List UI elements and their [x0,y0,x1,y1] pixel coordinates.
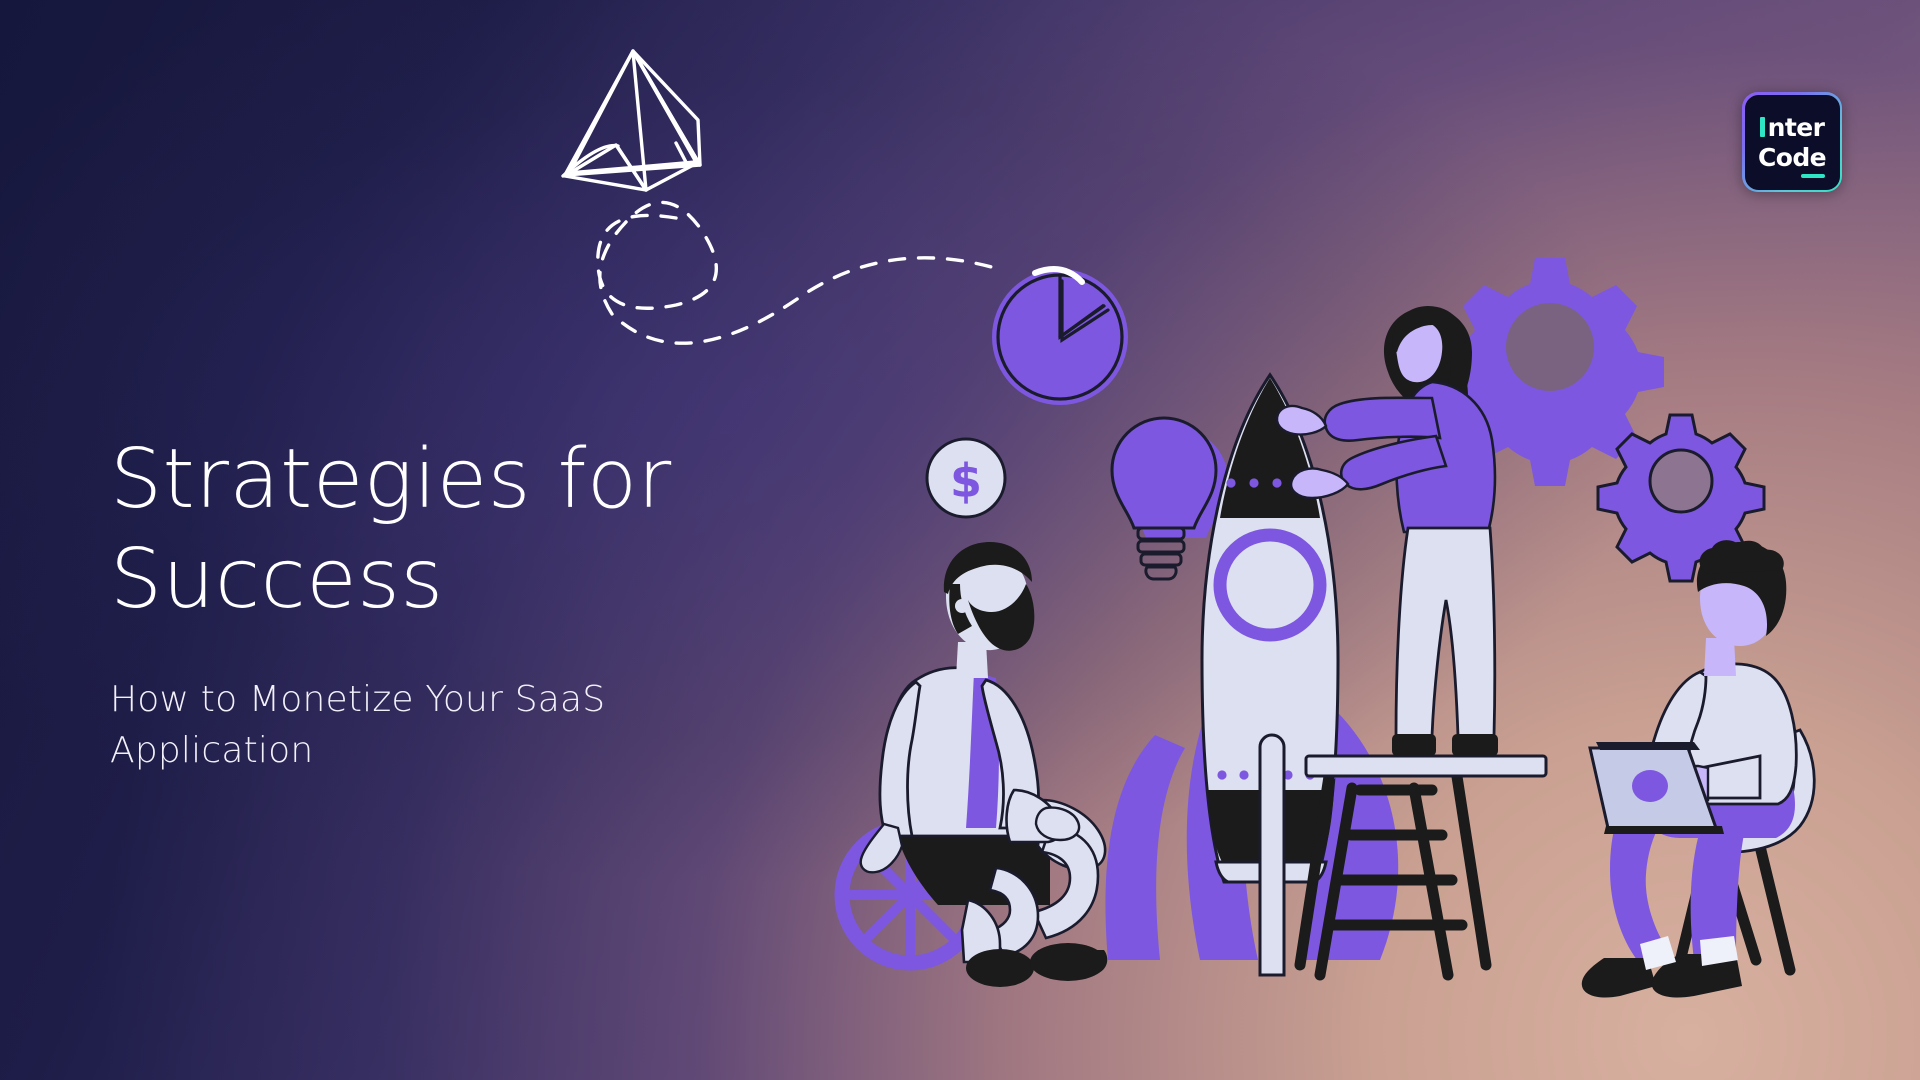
intercode-logo[interactable]: nter Code [1742,92,1842,192]
svg-text:$: $ [950,454,982,508]
person-with-laptop [1582,540,1814,997]
page-subtitle: How to Monetize Your SaaS Application [110,674,670,776]
man-in-wheelchair [842,542,1107,987]
clock-icon [992,269,1128,405]
dollar-coin-icon: $ [927,439,1005,517]
banner-canvas: $ [0,0,1920,1080]
logo-inner: nter Code [1745,95,1840,190]
ladder-platform [1306,756,1546,776]
logo-i-stem-icon [1760,117,1765,137]
page-title: Strategies for Success [110,430,750,630]
logo-inter-text: nter [1768,115,1825,140]
dashed-trail [598,202,1002,343]
headline-block: Strategies for Success How to Monetize Y… [110,430,750,776]
logo-code-text: Code [1758,143,1826,172]
logo-line-inter: nter [1760,115,1825,140]
logo-line-code: Code [1758,145,1826,170]
logo-underline-accent [1801,174,1825,178]
paper-plane-icon [563,51,700,190]
